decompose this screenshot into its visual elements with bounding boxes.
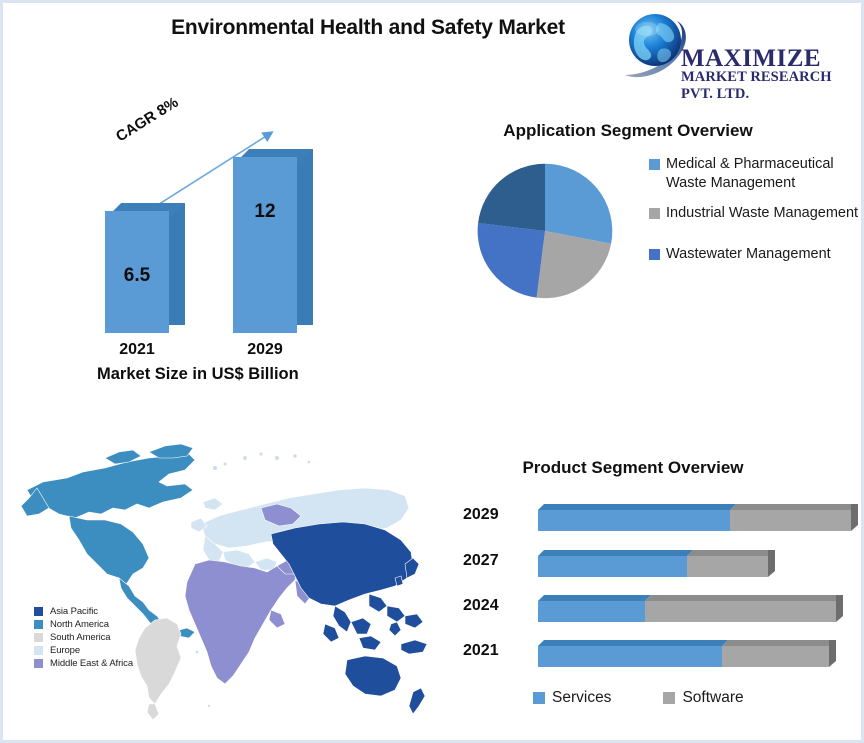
product-label-2021: 2021 bbox=[463, 642, 519, 660]
world-map-svg bbox=[9, 428, 459, 728]
product-seg-software-2029-top bbox=[730, 504, 857, 510]
product-label-2027: 2027 bbox=[463, 552, 519, 570]
map-legend-swatch-south-america bbox=[33, 632, 44, 643]
pie-slice-wastewater bbox=[478, 223, 545, 298]
infographic-page: Environmental Health and Safety Market bbox=[0, 0, 864, 743]
map-legend-item-asia-pacific[interactable]: Asia Pacific bbox=[33, 606, 133, 617]
regional-map: Asia Pacific North America South America… bbox=[9, 428, 459, 738]
product-legend-label-software: Software bbox=[682, 689, 743, 707]
map-legend-item-south-america[interactable]: South America bbox=[33, 632, 133, 643]
bar-2029-label: 2029 bbox=[225, 341, 305, 359]
product-seg-services-2024 bbox=[538, 601, 645, 622]
map-region-south-america[interactable] bbox=[135, 618, 181, 720]
bar-2021-value: 6.5 bbox=[105, 265, 169, 287]
product-chart-title: Product Segment Overview bbox=[463, 458, 803, 478]
product-seg-services-2021-top bbox=[538, 640, 728, 646]
company-logo: MAXIMIZE MARKET RESEARCH PVT. LTD. bbox=[623, 9, 863, 91]
legend-label-medical: Medical & Pharmaceutical Waste Managemen… bbox=[666, 155, 863, 193]
bar-2021-label: 2021 bbox=[97, 341, 177, 359]
market-size-chart: CAGR 8% 6.5 2021 12 2029 Market Size in … bbox=[83, 113, 433, 403]
logo-tagline: MARKET RESEARCH PVT. LTD. bbox=[681, 69, 863, 103]
bar-2021: 6.5 bbox=[105, 203, 169, 333]
product-legend-label-services: Services bbox=[552, 689, 611, 707]
product-legend-swatch-software bbox=[663, 692, 675, 704]
map-legend-swatch-europe bbox=[33, 645, 44, 656]
product-bar-2027-side bbox=[768, 550, 775, 577]
map-legend-label-middle-east-africa: Middle East & Africa bbox=[50, 658, 133, 669]
product-seg-software-2027 bbox=[687, 556, 768, 577]
map-legend-label-europe: Europe bbox=[50, 645, 80, 656]
product-row-2027: 2027 bbox=[463, 545, 863, 579]
map-legend-label-south-america: South America bbox=[50, 632, 110, 643]
product-legend-item-software[interactable]: Software bbox=[663, 689, 743, 707]
product-legend-item-services[interactable]: Services bbox=[533, 689, 611, 707]
product-row-2029: 2029 bbox=[463, 499, 863, 533]
product-seg-software-2021-top bbox=[722, 640, 835, 646]
product-seg-services-2029-top bbox=[538, 504, 736, 510]
product-seg-services-2021 bbox=[538, 646, 722, 667]
product-legend: Services Software bbox=[533, 689, 796, 707]
map-legend-label-north-america: North America bbox=[50, 619, 109, 630]
application-chart-title: Application Segment Overview bbox=[463, 121, 793, 141]
application-pie bbox=[475, 161, 615, 301]
product-seg-software-2027-top bbox=[687, 550, 774, 556]
bar-2029-value: 12 bbox=[233, 201, 297, 223]
product-bar-2029 bbox=[538, 504, 858, 531]
legend-label-industrial: Industrial Waste Management bbox=[666, 204, 858, 223]
product-seg-services-2027-top bbox=[538, 550, 693, 556]
application-segment-chart: Application Segment Overview Medical & P… bbox=[463, 113, 863, 363]
legend-swatch-wastewater bbox=[649, 249, 660, 260]
legend-swatch-industrial bbox=[649, 208, 660, 219]
product-bar-2027 bbox=[538, 550, 858, 577]
product-bar-2029-side bbox=[851, 504, 858, 531]
legend-label-wastewater: Wastewater Management bbox=[666, 245, 831, 264]
product-seg-software-2029 bbox=[730, 510, 851, 531]
bar-2029-face bbox=[233, 157, 297, 333]
product-bar-2024 bbox=[538, 595, 858, 622]
legend-item-industrial[interactable]: Industrial Waste Management bbox=[649, 204, 863, 223]
legend-item-wastewater[interactable]: Wastewater Management bbox=[649, 245, 863, 264]
product-label-2029: 2029 bbox=[463, 506, 519, 524]
product-bar-2021-side bbox=[829, 640, 836, 667]
product-label-2024: 2024 bbox=[463, 597, 519, 615]
map-legend-label-asia-pacific: Asia Pacific bbox=[50, 606, 98, 617]
product-row-2021: 2021 bbox=[463, 635, 863, 669]
page-title: Environmental Health and Safety Market bbox=[153, 16, 583, 40]
map-legend-swatch-north-america bbox=[33, 619, 44, 630]
pie-slice-other bbox=[478, 164, 545, 231]
product-seg-services-2029 bbox=[538, 510, 730, 531]
product-legend-swatch-services bbox=[533, 692, 545, 704]
product-seg-software-2021 bbox=[722, 646, 829, 667]
map-legend-item-middle-east-africa[interactable]: Middle East & Africa bbox=[33, 658, 133, 669]
map-legend-swatch-middle-east-africa bbox=[33, 658, 44, 669]
bar-2029: 12 bbox=[233, 149, 297, 333]
product-bar-2024-side bbox=[836, 595, 843, 622]
product-seg-software-2024-top bbox=[645, 595, 842, 601]
product-seg-services-2024-top bbox=[538, 595, 651, 601]
product-bar-2021 bbox=[538, 640, 858, 667]
map-legend-swatch-asia-pacific bbox=[33, 606, 44, 617]
map-legend-item-north-america[interactable]: North America bbox=[33, 619, 133, 630]
bar-2021-side bbox=[169, 203, 185, 325]
product-segment-chart: Product Segment Overview 2029 2027 bbox=[463, 453, 863, 723]
product-row-2024: 2024 bbox=[463, 590, 863, 624]
map-region-asia-pacific[interactable] bbox=[271, 522, 427, 714]
legend-item-medical[interactable]: Medical & Pharmaceutical Waste Managemen… bbox=[649, 155, 863, 193]
map-legend: Asia Pacific North America South America… bbox=[33, 606, 133, 671]
product-seg-services-2027 bbox=[538, 556, 687, 577]
legend-swatch-medical bbox=[649, 159, 660, 170]
application-legend: Medical & Pharmaceutical Waste Managemen… bbox=[649, 155, 863, 276]
map-legend-item-europe[interactable]: Europe bbox=[33, 645, 133, 656]
market-size-caption: Market Size in US$ Billion bbox=[97, 365, 299, 384]
bar-2029-side bbox=[297, 149, 313, 325]
pie-slice-medical bbox=[545, 164, 612, 244]
product-seg-software-2024 bbox=[645, 601, 836, 622]
